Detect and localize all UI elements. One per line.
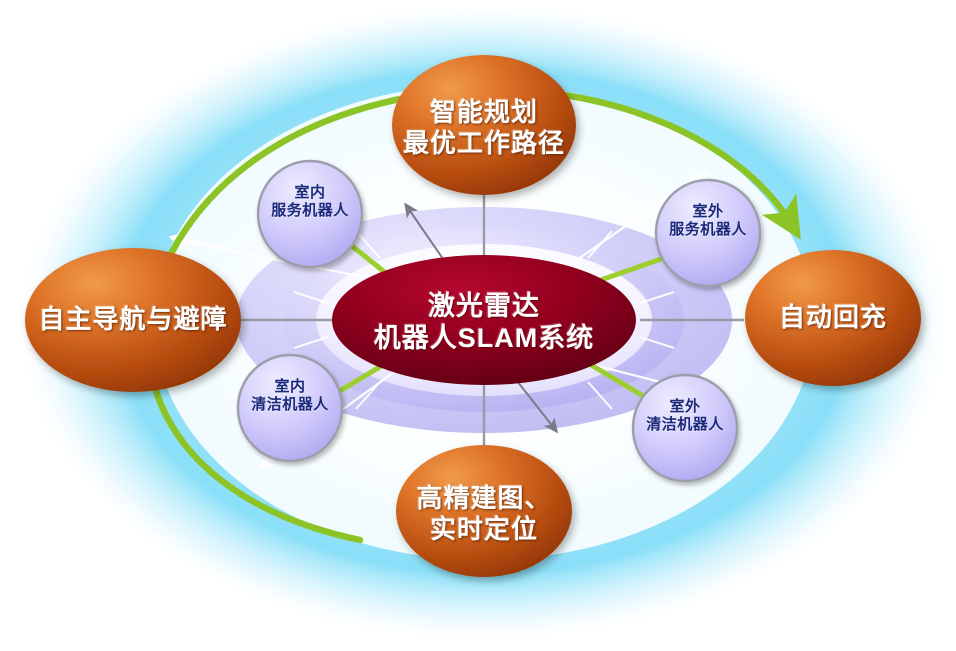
node-outdoor-cleaning-robot[interactable] — [633, 375, 737, 481]
diagram-canvas: 智能规划 最优工作路径 自主导航与避障 自动回充 高精建图、 实时定位 室内 服… — [0, 0, 956, 651]
node-auto-recharge[interactable] — [745, 250, 921, 386]
node-high-precision-mapping[interactable] — [396, 445, 572, 577]
node-autonomous-navigation[interactable] — [25, 248, 241, 392]
diagram-graphics-layer — [0, 0, 956, 651]
node-indoor-cleaning-robot[interactable] — [238, 355, 342, 461]
node-indoor-service-robot[interactable] — [258, 161, 362, 267]
node-intelligent-planning[interactable] — [392, 55, 576, 195]
node-lidar-slam-core[interactable] — [332, 255, 636, 385]
node-outdoor-service-robot[interactable] — [656, 180, 760, 286]
